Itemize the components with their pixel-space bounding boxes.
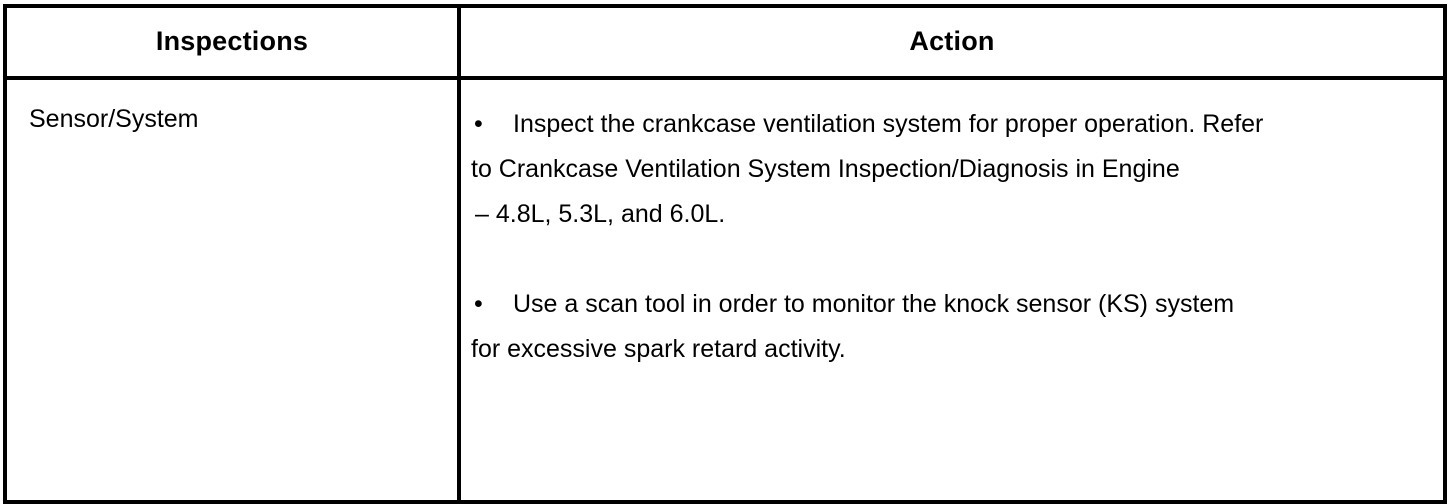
list-item: • Use a scan tool in order to monitor th…	[471, 282, 1429, 372]
inspection-content: Sensor/System	[7, 80, 457, 134]
column-header-inspections: Inspections	[5, 6, 459, 78]
column-header-action-label: Action	[461, 27, 1443, 57]
document-page: Inspections Action Sensor/System	[0, 0, 1456, 504]
bullet-text: Use a scan tool in order to monitor the …	[471, 282, 1429, 372]
bullet-line: Inspect the crankcase ventilation system…	[471, 102, 1429, 147]
cell-inspection: Sensor/System	[5, 78, 459, 502]
column-header-action: Action	[459, 6, 1445, 78]
bullet-line: for excessive spark retard activity.	[471, 327, 1429, 372]
cell-action: • Inspect the crankcase ventilation syst…	[459, 78, 1445, 502]
inspections-action-table: Inspections Action Sensor/System	[3, 4, 1447, 504]
action-content: • Inspect the crankcase ventilation syst…	[461, 80, 1443, 372]
bullet-text: Inspect the crankcase ventilation system…	[471, 102, 1429, 237]
bullet-point-icon: •	[474, 282, 490, 327]
bullet-line: – 4.8L, 5.3L, and 6.0L.	[471, 192, 1429, 237]
table-header-row: Inspections Action	[5, 6, 1445, 78]
column-header-inspections-label: Inspections	[7, 27, 457, 57]
inspection-label: Sensor/System	[29, 104, 457, 134]
bullet-line: Use a scan tool in order to monitor the …	[471, 282, 1429, 327]
table-row: Sensor/System • Inspect the crankcase ve…	[5, 78, 1445, 502]
list-item: • Inspect the crankcase ventilation syst…	[471, 102, 1429, 237]
action-bullet-list: • Inspect the crankcase ventilation syst…	[471, 102, 1429, 372]
bullet-line: to Crankcase Ventilation System Inspecti…	[471, 147, 1429, 192]
bullet-point-icon: •	[474, 102, 490, 147]
